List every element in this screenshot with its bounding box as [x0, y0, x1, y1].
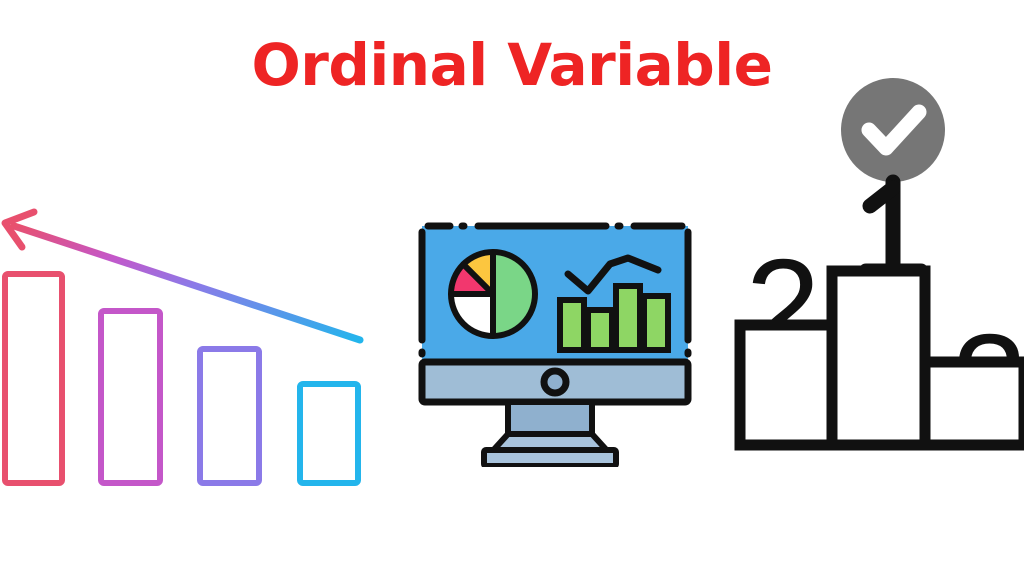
screen-bar-1 — [560, 300, 584, 350]
screen-bar-3 — [616, 286, 640, 350]
bar-4 — [300, 384, 358, 483]
monitor-stand — [484, 402, 616, 466]
podium-block-3 — [925, 362, 1024, 445]
bar-1 — [5, 274, 62, 483]
monitor-chin — [422, 362, 688, 402]
winners-podium: 2 3 — [728, 78, 1024, 453]
bar-2 — [101, 311, 160, 483]
screen-bar-4 — [644, 296, 668, 350]
bar-3 — [200, 349, 259, 483]
podium-block-1 — [832, 271, 925, 445]
podium-rank-1-numeral — [866, 182, 921, 271]
slide-canvas: Ordinal Variable — [0, 0, 1024, 576]
podium-block-2 — [740, 325, 832, 445]
power-button[interactable] — [544, 371, 566, 393]
check-badge — [841, 78, 945, 182]
pie-chart — [451, 252, 535, 336]
screen-bar-2 — [588, 310, 612, 350]
desktop-monitor-dashboard — [410, 212, 700, 467]
descending-bar-chart — [0, 200, 400, 500]
